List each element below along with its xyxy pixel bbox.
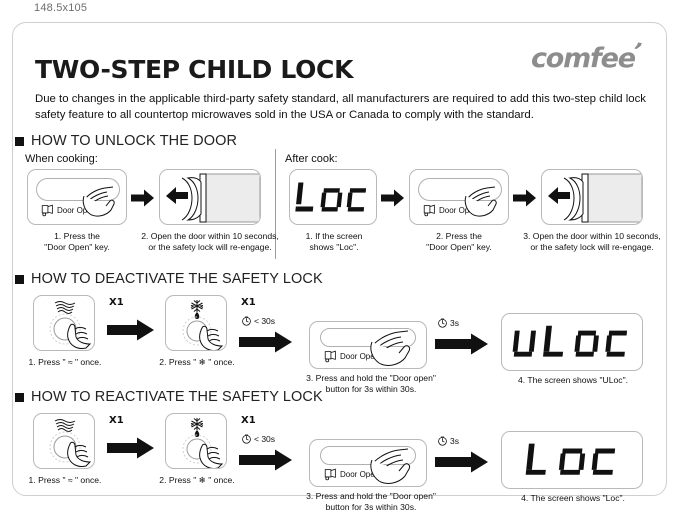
knob-wave-icon [34,296,95,351]
caption: 3. Press and hold the "Door open" button… [289,491,453,513]
caption: 2. Press the "Door Open" key. [405,231,513,253]
panel-knob-wave [33,413,95,469]
caption: 1. Press " ≈ " once. [23,475,107,486]
display-text-loc [518,438,626,482]
hand-press-icon [368,444,426,487]
badge-x1: X1 [109,297,124,308]
seven-segment-display [502,432,642,488]
caption: 4. The screen shows "Loc". [501,493,645,504]
arrow-right-icon [435,451,489,473]
microwave-door-open-icon [542,170,643,225]
group-label-when-cooking: When cooking: [25,153,98,165]
image-dimension-label: 148.5x105 [34,2,87,14]
panel-knob-defrost [165,413,227,469]
timer-label: 3s [450,436,459,446]
timer-label: < 30s [254,316,275,326]
bullet-square-icon [15,137,24,146]
stopwatch-icon [437,317,448,328]
intro-paragraph: Due to changes in the applicable third-p… [35,91,655,123]
arrow-right-icon [381,189,405,207]
section-heading-text: HOW TO REACTIVATE THE SAFETY LOCK [31,389,323,405]
caption: 3. Open the door within 10 seconds, or t… [519,231,665,253]
timer-label: < 30s [254,434,275,444]
stopwatch-icon [437,435,448,446]
instruction-card: comfee’ TWO-STEP CHILD LOCK Due to chang… [12,22,667,496]
panel-door-open-hold: Door Open [309,321,427,369]
timer-label: 3s [450,318,459,328]
knob-wave-icon [34,414,95,469]
door-icon [423,204,436,217]
caption: 2. Open the door within 10 seconds, or t… [137,231,283,253]
display-text-uloc [511,320,633,364]
caption: 2. Press " ❄ " once. [155,475,239,486]
arrow-right-icon [131,189,155,207]
caption: 1. Press " ≈ " once. [23,357,107,368]
panel-display-loc [289,169,377,225]
stopwatch-icon [241,315,252,326]
section-heading-reactivate: HOW TO REACTIVATE THE SAFETY LOCK [15,389,323,405]
bullet-square-icon [15,275,24,284]
brand-name: comfee [531,43,635,74]
panel-door-swing [541,169,643,225]
section-heading-deactivate: HOW TO DEACTIVATE THE SAFETY LOCK [15,271,323,287]
hand-press-icon [368,326,426,369]
arrow-right-icon [107,319,155,341]
door-icon [324,350,337,363]
panel-door-open-hold: Door Open [309,439,427,487]
panel-door-swing [159,169,261,225]
section-heading-unlock: HOW TO UNLOCK THE DOOR [15,133,237,149]
timer-hold-3s: 3s [437,317,459,328]
caption: 4. The screen shows "ULoc". [501,375,645,386]
badge-x1: X1 [241,415,256,426]
panel-door-open-key: Door Open [27,169,127,225]
hand-press-icon [80,182,126,222]
bullet-square-icon [15,393,24,402]
arrow-right-icon [435,333,489,355]
section-heading-text: HOW TO DEACTIVATE THE SAFETY LOCK [31,271,323,287]
stopwatch-icon [241,433,252,444]
panel-knob-wave [33,295,95,351]
caption: 2. Press " ❄ " once. [155,357,239,368]
section-heading-text: HOW TO UNLOCK THE DOOR [31,133,237,149]
badge-x1: X1 [241,297,256,308]
group-label-after-cook: After cook: [285,153,338,165]
knob-defrost-icon [166,414,227,469]
arrow-right-icon [239,331,293,353]
panel-door-open-key: Door Open [409,169,509,225]
arrow-right-icon [239,449,293,471]
caption: 1. If the screen shows "Loc". [287,231,381,253]
caption: 1. Press the "Door Open" key. [23,231,131,253]
panel-display-loc [501,431,643,489]
microwave-door-open-icon [160,170,261,225]
arrow-right-icon [107,437,155,459]
arrow-right-icon [513,189,537,207]
panel-display-uloc [501,313,643,371]
badge-x1: X1 [109,415,124,426]
comfee-logo: comfee’ [531,43,642,74]
timer-hold-3s: 3s [437,435,459,446]
panel-knob-defrost [165,295,227,351]
knob-defrost-icon [166,296,227,351]
seven-segment-display [502,314,642,370]
hand-press-icon [462,182,508,222]
door-icon [324,468,337,481]
door-icon [41,204,54,217]
seven-segment-display [290,170,376,224]
display-text-loc [293,177,373,217]
timer-within-30s: < 30s [241,315,275,326]
timer-within-30s: < 30s [241,433,275,444]
page-title: TWO-STEP CHILD LOCK [35,55,353,84]
